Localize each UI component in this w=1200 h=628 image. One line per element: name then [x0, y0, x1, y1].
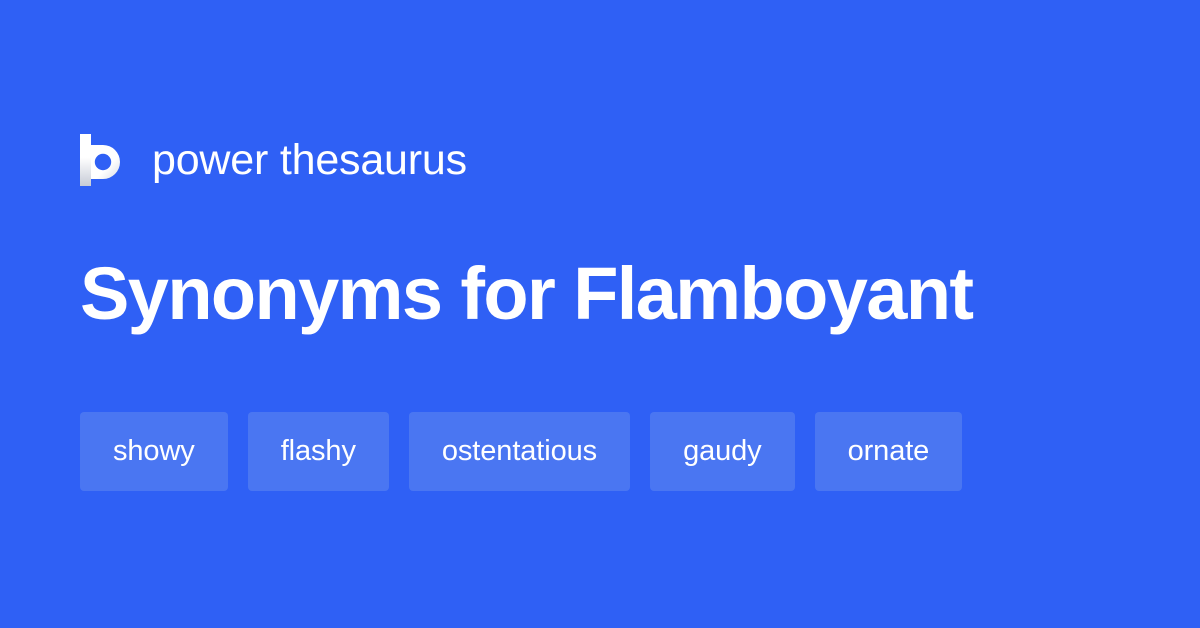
page-title: Synonyms for Flamboyant [80, 254, 1140, 334]
synonym-chip[interactable]: flashy [248, 412, 389, 491]
synonym-chip[interactable]: ornate [815, 412, 963, 491]
open-graph-card: power thesaurus Synonyms for Flamboyant … [0, 0, 1200, 628]
brand-header[interactable]: power thesaurus [80, 125, 467, 195]
brand-name-label: power thesaurus [152, 139, 467, 182]
power-thesaurus-b-logo-icon [80, 134, 126, 186]
synonym-chip[interactable]: showy [80, 412, 228, 491]
synonym-chip-list: showy flashy ostentatious gaudy ornate [80, 412, 1140, 491]
synonym-chip[interactable]: ostentatious [409, 412, 630, 491]
synonym-chip[interactable]: gaudy [650, 412, 795, 491]
